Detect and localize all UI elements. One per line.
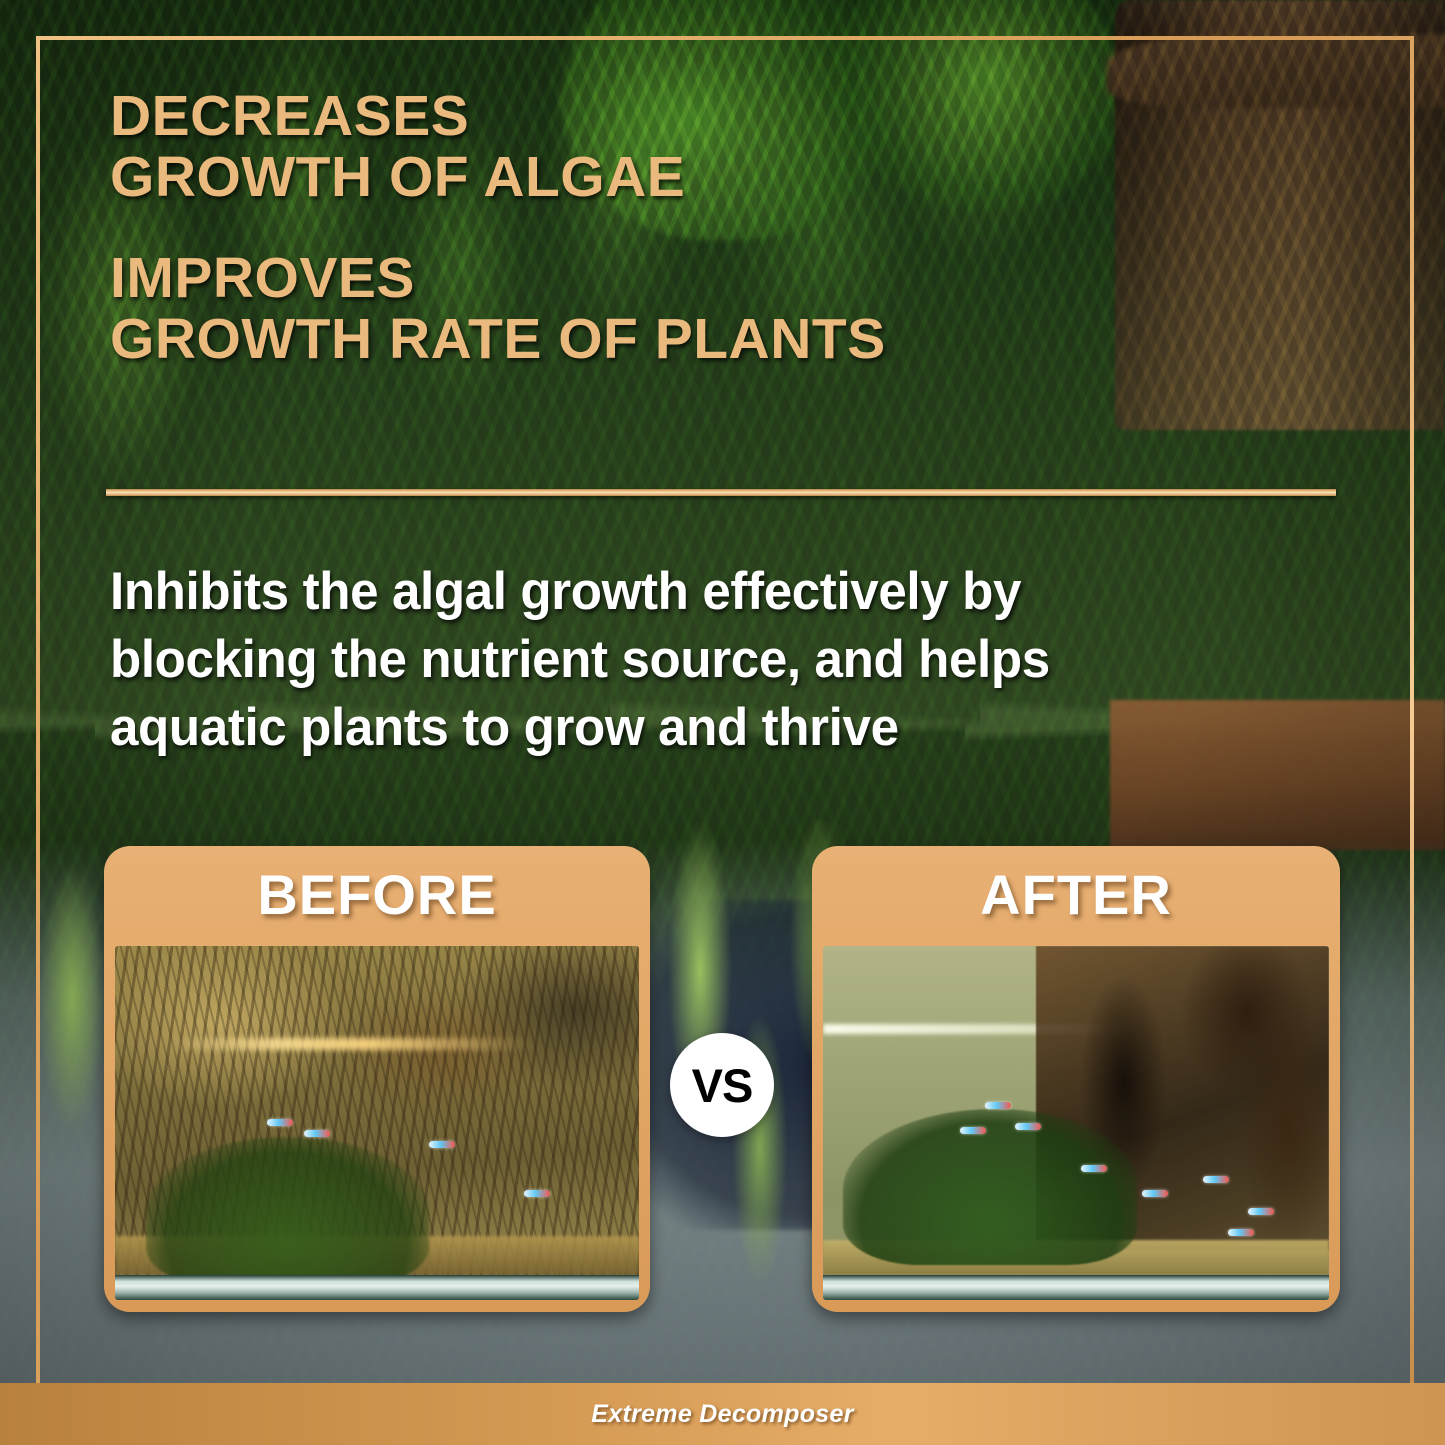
after-fish-2 xyxy=(960,1127,986,1134)
before-aquarium-photo xyxy=(115,946,639,1300)
headline-block: DECREASES GROWTH OF ALGAE IMPROVES GROWT… xyxy=(110,86,1290,370)
before-fish-3 xyxy=(429,1141,455,1148)
body-paragraph: Inhibits the algal growth effectively by… xyxy=(110,558,1268,761)
before-fish-1 xyxy=(267,1119,293,1126)
after-fish-5 xyxy=(1142,1190,1168,1197)
vs-badge: VS xyxy=(670,1033,774,1137)
after-panel: AFTER xyxy=(812,846,1340,1312)
after-fish-7 xyxy=(1248,1208,1274,1215)
body-line-3: aquatic plants to grow and thrive xyxy=(110,694,1268,762)
after-tank-rim xyxy=(823,1275,1329,1300)
before-tank-rim xyxy=(115,1275,639,1300)
before-light-streak xyxy=(167,1038,534,1050)
body-line-2: blocking the nutrient source, and helps xyxy=(110,626,1268,694)
before-panel-title: BEFORE xyxy=(104,862,650,927)
footer-brand-bar: Extreme Decomposer xyxy=(0,1383,1445,1445)
body-line-1: Inhibits the algal growth effectively by xyxy=(110,558,1268,626)
after-plant-mass xyxy=(843,1109,1136,1265)
after-aquarium-photo xyxy=(823,946,1329,1300)
after-fish-4 xyxy=(1081,1165,1107,1172)
after-fish-8 xyxy=(1228,1229,1254,1236)
footer-brand-name: Extreme Decomposer xyxy=(591,1400,853,1429)
after-fish-3 xyxy=(1015,1123,1041,1130)
headline-line-3: IMPROVES xyxy=(110,248,1290,309)
vs-badge-label: VS xyxy=(692,1058,753,1113)
headline-spacer xyxy=(110,208,1290,248)
headline-line-1: DECREASES xyxy=(110,86,1290,147)
after-fish-1 xyxy=(985,1102,1011,1109)
after-fish-6 xyxy=(1203,1176,1229,1183)
before-panel: BEFORE xyxy=(104,846,650,1312)
product-feature-card: DECREASES GROWTH OF ALGAE IMPROVES GROWT… xyxy=(0,0,1445,1445)
gold-divider-rule xyxy=(106,489,1336,496)
headline-line-4: GROWTH RATE OF PLANTS xyxy=(110,309,1290,370)
before-plant-mass xyxy=(146,1137,429,1286)
before-fish-2 xyxy=(304,1130,330,1137)
headline-line-2: GROWTH OF ALGAE xyxy=(110,147,1290,208)
before-fish-4 xyxy=(524,1190,550,1197)
after-panel-title: AFTER xyxy=(812,862,1340,927)
